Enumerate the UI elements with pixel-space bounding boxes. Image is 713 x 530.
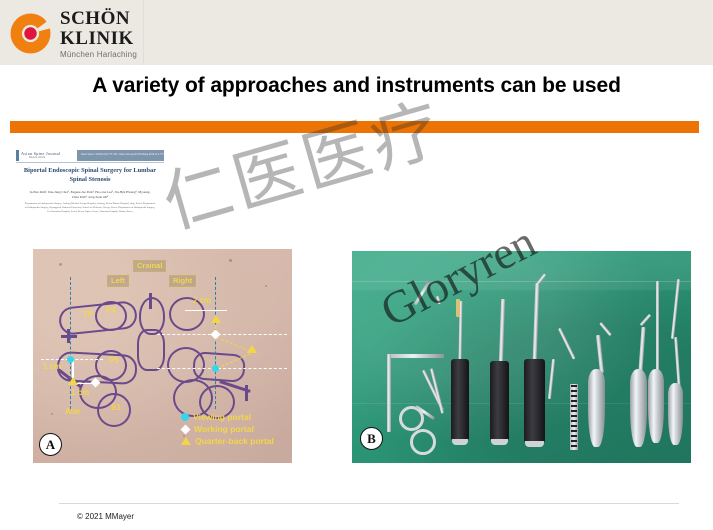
guide-line-horizontal-right-upper <box>157 334 287 335</box>
instrument-11-handle <box>668 383 683 445</box>
legend-label-quarter-back-portal: Quarter-back portal <box>195 436 274 446</box>
instrument-4-handle <box>490 361 509 441</box>
orientation-label-left: Left <box>107 275 129 287</box>
instrument-1-handle <box>387 354 391 432</box>
measure-label-1cm-horizontal: 1 cm <box>71 389 89 397</box>
journal-rule <box>16 162 164 163</box>
footer-copyright: © 2021 MMayer <box>77 512 134 521</box>
legend-label-viewing-portal: Viewing portal <box>193 412 251 422</box>
legend-item-quarter-back-portal: Quarter-back portal <box>181 436 274 446</box>
instrument-9-handle <box>630 369 647 447</box>
legend-item-working-portal: Working portal <box>181 424 274 434</box>
header-divider <box>143 0 144 65</box>
logo-subtitle: München Harlaching <box>60 51 137 59</box>
anatomy-label-alar: Alar <box>65 408 81 416</box>
drape-seam <box>352 281 691 282</box>
paper-title: Biportal Endoscopic Spinal Surgery for L… <box>22 167 158 184</box>
measure-label-2cm: 2 cm <box>193 297 211 305</box>
schoen-klinik-logo: SCHÖN KLINIK München Harlaching <box>8 6 143 61</box>
instrument-3-handle <box>451 359 469 441</box>
instrument-10-shaft <box>656 281 659 373</box>
anatomy-label-tp: TP <box>83 311 93 319</box>
slide-root: SCHÖN KLINIK München Harlaching A variet… <box>0 0 713 530</box>
anatomy-label-s1: S1 <box>111 404 121 412</box>
quarter-back-portal-icon <box>181 437 191 445</box>
skin-freckle <box>51 413 53 415</box>
footer-divider <box>59 503 679 504</box>
anatomy-label-p4: P4 <box>106 307 116 315</box>
marker-quarter-back-portal-top <box>211 315 221 323</box>
instrument-7-ruler-marks <box>571 385 577 449</box>
journal-citation: Asian Spine J 2018;12(4):777-782 • https… <box>77 150 164 156</box>
legend-item-viewing-portal: Viewing portal <box>181 412 274 422</box>
guide-line-horizontal-right-lower <box>157 368 287 369</box>
journal-article-thumbnail: Asian Spine Journal Review Article Asian… <box>16 148 164 240</box>
skin-freckle <box>229 259 232 262</box>
journal-ribbon: Asian Spine J 2018;12(4):777-782 • https… <box>77 150 164 161</box>
schoen-klinik-logo-icon <box>8 11 53 56</box>
instrument-5-ferrule <box>525 441 544 447</box>
instrument-3-ferrule <box>452 439 468 445</box>
instrument-4-ferrule <box>491 439 508 445</box>
journal-name-block: Asian Spine Journal Review Article <box>16 150 77 161</box>
logo-line-1: SCHÖN <box>60 9 137 28</box>
measure-label-1cm-vertical: 1 cm <box>43 363 61 371</box>
guide-line-vertical-right <box>215 277 216 409</box>
anatomy-label-p5: P5 <box>109 357 119 365</box>
skin-freckle <box>59 263 62 266</box>
skin-freckle <box>265 285 267 287</box>
ink-line-right-tail <box>245 385 248 401</box>
viewing-portal-icon <box>181 413 189 421</box>
paper-authors: Ju-Eun Kim¹, Dae-Jung Choi², Eugene-Jae … <box>26 190 154 200</box>
logo-line-2: KLINIK <box>60 29 137 48</box>
instrument-3-tip <box>456 299 460 317</box>
paper-affiliations: ¹Department of Orthopaedic Surgery, Ando… <box>24 202 156 214</box>
ink-marking-spinous-lower <box>137 329 165 371</box>
working-portal-icon <box>181 424 191 434</box>
instrument-10-handle <box>648 369 664 443</box>
marker-viewing-portal-left <box>67 356 74 363</box>
journal-masthead: Asian Spine Journal Review Article Asian… <box>16 150 164 161</box>
panel-letter-b: B <box>360 427 383 450</box>
orientation-label-cranial: Crainal <box>133 260 166 272</box>
instrument-8-handle <box>588 369 605 447</box>
figure-a-legend: Viewing portal Working portal Quarter-ba… <box>181 412 274 448</box>
marker-quarter-back-portal-right <box>247 345 257 353</box>
panel-letter-a: A <box>39 433 62 456</box>
marker-viewing-portal-right <box>212 365 219 372</box>
instrument-1-horizontal <box>388 354 444 358</box>
measure-arrow-2cm <box>185 310 227 311</box>
legend-label-working-portal: Working portal <box>194 424 254 434</box>
orange-accent-bar <box>10 121 699 133</box>
chinese-watermark: 仁医医疗 <box>150 73 454 248</box>
ink-line-midline <box>149 293 152 309</box>
logo-wordmark: SCHÖN KLINIK München Harlaching <box>60 9 137 59</box>
figure-a-back-anatomy-marking: 2 cm 1 cm 1 cm Crainal Left Right TP P4 … <box>33 249 292 463</box>
marker-quarter-back-portal-left <box>68 377 78 385</box>
slide-title: A variety of approaches and instruments … <box>0 74 713 98</box>
figure-b-surgical-instruments: B <box>352 251 691 463</box>
instrument-5-handle <box>524 359 545 443</box>
instrument-2-ring-lower <box>410 429 436 455</box>
orientation-label-right: Right <box>169 275 196 287</box>
journal-article-type: Review Article <box>19 156 77 159</box>
